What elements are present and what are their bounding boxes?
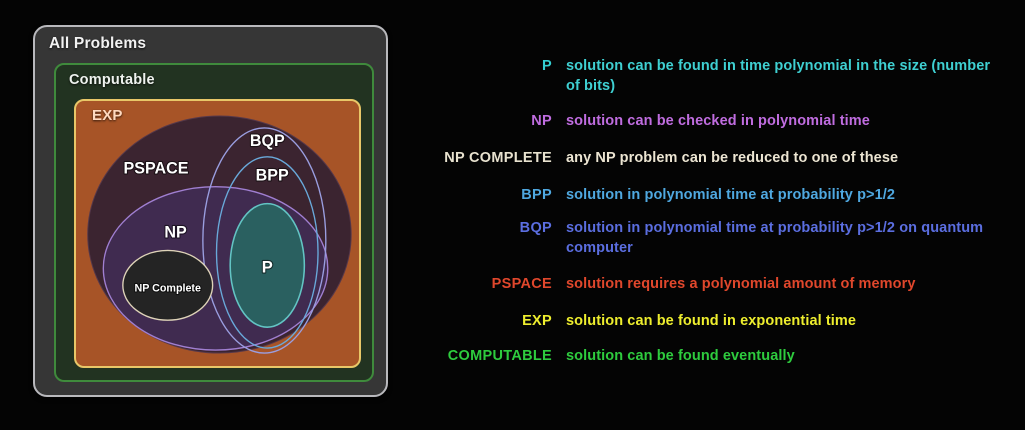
legend-term-pspace: PSPACE — [420, 274, 552, 294]
set-label-bqp: BQP — [250, 132, 285, 150]
legend-row-pspace: PSPACE solution requires a polynomial am… — [420, 274, 1025, 294]
legend-row-computable: COMPUTABLE solution can be found eventua… — [420, 346, 1025, 366]
set-label-p: P — [262, 257, 273, 276]
legend-row-p: P solution can be found in time polynomi… — [420, 56, 1025, 96]
legend-row-bqp: BQP solution in polynomial time at proba… — [420, 218, 1025, 258]
set-label-computable: Computable — [69, 72, 155, 88]
set-label-bpp: BPP — [256, 167, 289, 185]
legend-desc-p: solution can be found in time polynomial… — [566, 56, 1006, 96]
legend-term-bqp: BQP — [420, 218, 552, 238]
legend-panel: P solution can be found in time polynomi… — [420, 0, 1025, 430]
venn-ellipses: PSPACE BQP BPP NP NP Complete P — [76, 101, 359, 366]
set-box-all-problems: All Problems Computable EXP — [33, 25, 388, 397]
legend-row-exp: EXP solution can be found in exponential… — [420, 311, 1025, 331]
set-label-np: NP — [164, 223, 187, 241]
legend-desc-bqp: solution in polynomial time at probabili… — [566, 218, 1006, 258]
legend-term-np: NP — [420, 111, 552, 131]
legend-desc-pspace: solution requires a polynomial amount of… — [566, 274, 916, 294]
legend-desc-np-complete: any NP problem can be reduced to one of … — [566, 148, 898, 168]
legend-desc-bpp: solution in polynomial time at probabili… — [566, 185, 895, 205]
legend-row-np-complete: NP COMPLETE any NP problem can be reduce… — [420, 148, 1025, 168]
legend-desc-exp: solution can be found in exponential tim… — [566, 311, 856, 331]
set-label-all-problems: All Problems — [49, 35, 146, 53]
set-box-computable: Computable EXP — [54, 63, 374, 382]
legend-term-np-complete: NP COMPLETE — [420, 148, 552, 168]
legend-desc-computable: solution can be found eventually — [566, 346, 795, 366]
legend-desc-np: solution can be checked in polynomial ti… — [566, 111, 870, 131]
legend-row-bpp: BPP solution in polynomial time at proba… — [420, 185, 1025, 205]
complexity-class-diagram: All Problems Computable EXP — [0, 0, 420, 430]
legend-term-p: P — [420, 56, 552, 76]
set-label-np-complete: NP Complete — [134, 282, 201, 294]
legend-term-bpp: BPP — [420, 185, 552, 205]
legend-term-computable: COMPUTABLE — [420, 346, 552, 366]
set-label-pspace: PSPACE — [124, 160, 189, 178]
legend-term-exp: EXP — [420, 311, 552, 331]
legend-row-np: NP solution can be checked in polynomial… — [420, 111, 1025, 131]
set-box-exp: EXP PSPACE BQP — [74, 99, 361, 368]
